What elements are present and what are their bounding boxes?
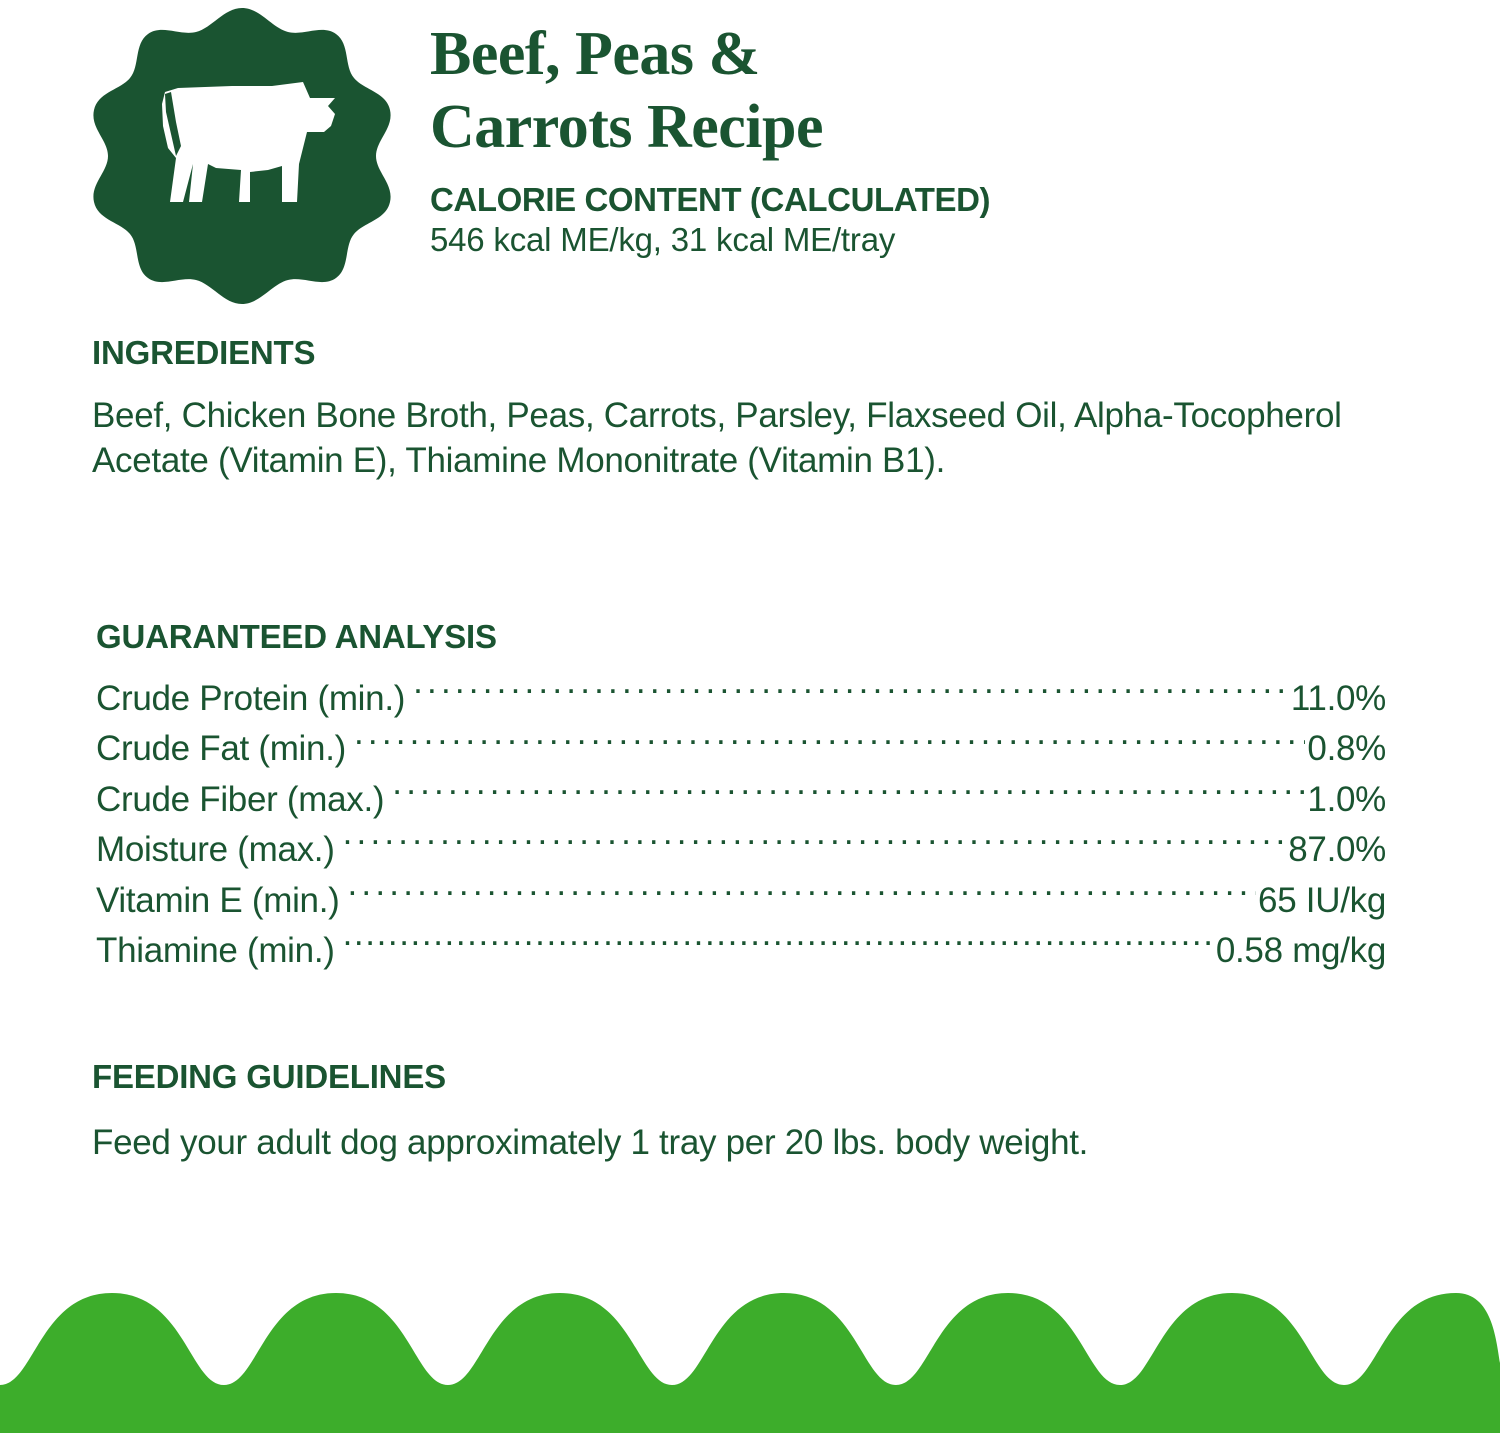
ga-row-label: Crude Fat (min.) <box>96 724 346 774</box>
ga-row-dot-leader <box>343 826 1287 861</box>
ga-row-value: 0.8% <box>1307 724 1386 774</box>
guaranteed-analysis-row: Crude Protein (min.)11.0% <box>96 674 1386 724</box>
ga-row-label: Vitamin E (min.) <box>96 876 340 926</box>
guaranteed-analysis-row: Thiamine (min.)0.58 mg/kg <box>96 926 1386 976</box>
page-title: Beef, Peas & Carrots Recipe <box>430 18 1430 163</box>
ga-row-value: 11.0% <box>1291 674 1386 724</box>
ingredients-heading: INGREDIENTS <box>92 334 1392 372</box>
guaranteed-analysis-row: Moisture (max.)87.0% <box>96 825 1386 875</box>
ga-row-label: Thiamine (min.) <box>96 926 335 976</box>
ga-row-value: 87.0% <box>1288 825 1386 875</box>
green-wave-decoration <box>0 1273 1500 1433</box>
guaranteed-analysis-list: Crude Protein (min.)11.0%Crude Fat (min.… <box>96 674 1386 976</box>
header: Beef, Peas & Carrots Recipe CALORIE CONT… <box>0 0 1500 300</box>
nutrition-label-page: Beef, Peas & Carrots Recipe CALORIE CONT… <box>0 0 1500 1433</box>
ga-row-label: Moisture (max.) <box>96 825 335 875</box>
ga-row-dot-leader <box>413 675 1289 710</box>
title-block: Beef, Peas & Carrots Recipe CALORIE CONT… <box>430 18 1430 259</box>
feeding-guidelines-heading: FEEDING GUIDELINES <box>92 1058 1292 1096</box>
ingredients-section: INGREDIENTS Beef, Chicken Bone Broth, Pe… <box>92 334 1392 484</box>
ga-row-dot-leader <box>354 725 1305 760</box>
guaranteed-analysis-row: Vitamin E (min.)65 IU/kg <box>96 876 1386 926</box>
cow-badge-icon <box>92 6 392 306</box>
ga-row-label: Crude Protein (min.) <box>96 674 405 724</box>
calorie-content-heading: CALORIE CONTENT (CALCULATED) <box>430 181 1430 219</box>
ga-row-dot-leader <box>348 877 1257 912</box>
calorie-content-value: 546 kcal ME/kg, 31 kcal ME/tray <box>430 221 1430 259</box>
ga-row-value: 0.58 mg/kg <box>1216 926 1386 976</box>
ga-row-value: 1.0% <box>1307 775 1386 825</box>
ga-row-label: Crude Fiber (max.) <box>96 775 384 825</box>
feeding-guidelines-text: Feed your adult dog approximately 1 tray… <box>92 1120 1102 1166</box>
ga-row-value: 65 IU/kg <box>1258 876 1386 926</box>
guaranteed-analysis-heading: GUARANTEED ANALYSIS <box>96 618 1396 656</box>
ga-row-dot-leader <box>343 927 1214 962</box>
ga-row-dot-leader <box>392 776 1305 811</box>
guaranteed-analysis-row: Crude Fiber (max.)1.0% <box>96 775 1386 825</box>
feeding-guidelines-section: FEEDING GUIDELINES Feed your adult dog a… <box>92 1058 1292 1166</box>
guaranteed-analysis-row: Crude Fat (min.)0.8% <box>96 724 1386 774</box>
guaranteed-analysis-section: GUARANTEED ANALYSIS Crude Protein (min.)… <box>96 618 1396 976</box>
ingredients-text: Beef, Chicken Bone Broth, Peas, Carrots,… <box>92 394 1347 484</box>
